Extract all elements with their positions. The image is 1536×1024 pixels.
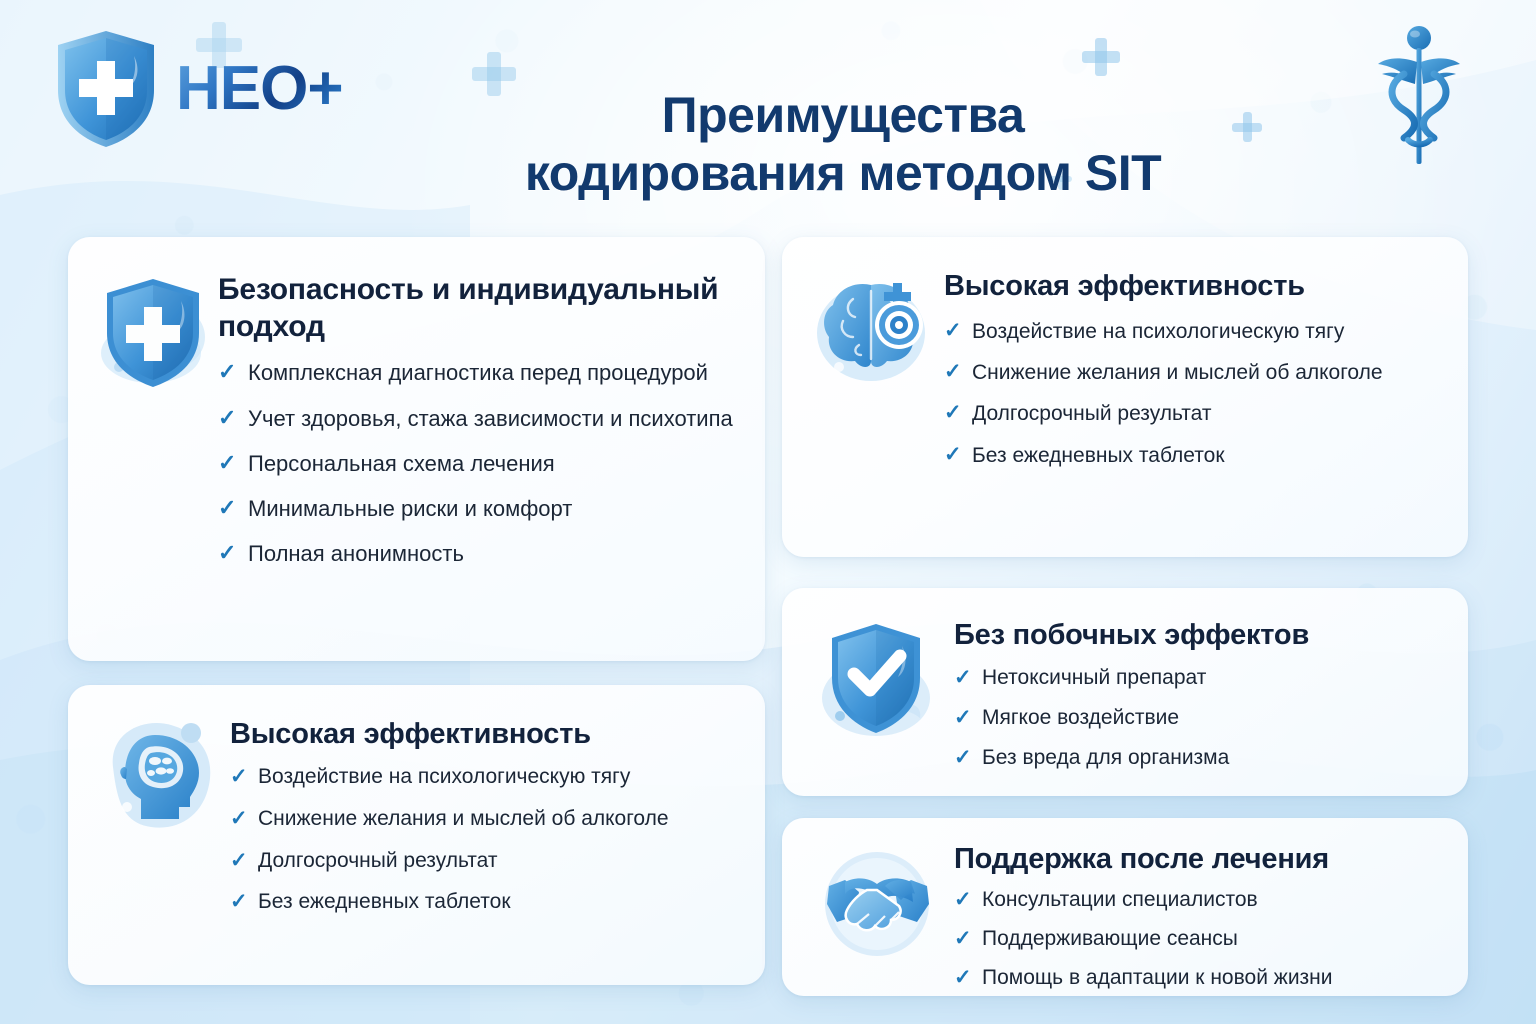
check-icon: ✓	[230, 889, 258, 912]
list-item-text: Без ежедневных таблеток	[258, 889, 739, 916]
check-icon: ✓	[944, 400, 972, 423]
check-icon: ✓	[218, 450, 248, 474]
card-support-list: ✓ Консультации специалистов ✓ Поддержива…	[954, 887, 1442, 992]
card-effectiveness-right-body: Высокая эффективность ✓ Воздействие на п…	[944, 261, 1442, 539]
list-item-text: Долгосрочный результат	[972, 400, 1442, 427]
list-item: ✓ Помощь в адаптации к новой жизни	[954, 965, 1442, 992]
card-effectiveness-left: Высокая эффективность ✓ Воздействие на п…	[68, 685, 765, 985]
card-safety: Безопасность и индивидуальный подход ✓ К…	[68, 237, 765, 661]
list-item: ✓ Учет здоровья, стажа зависимости и пси…	[218, 405, 737, 433]
brand-logo[interactable]: НЕО+	[50, 28, 343, 150]
list-item-text: Консультации специалистов	[982, 887, 1442, 914]
list-item-text: Мягкое воздействие	[982, 705, 1442, 732]
list-item: ✓ Долгосрочный результат	[230, 848, 739, 875]
list-item: ✓ Минимальные риски и комфорт	[218, 495, 737, 523]
head-brain-icon	[95, 711, 225, 841]
shield-plus-icon	[50, 28, 162, 150]
check-icon: ✓	[954, 887, 982, 910]
check-icon: ✓	[218, 540, 248, 564]
check-icon: ✓	[954, 705, 982, 728]
list-item-text: Поддерживающие сеансы	[982, 926, 1442, 953]
list-item: ✓ Воздействие на психологическую тягу	[944, 318, 1442, 345]
check-icon: ✓	[230, 848, 258, 871]
check-icon: ✓	[218, 359, 248, 383]
check-icon: ✓	[944, 359, 972, 382]
list-item-text: Воздействие на психологическую тягу	[258, 764, 739, 791]
card-support-icon-wrap	[804, 836, 954, 982]
list-item: ✓ Без ежедневных таблеток	[944, 442, 1442, 469]
list-item-text: Минимальные риски и комфорт	[248, 495, 737, 523]
card-no-side-effects-icon-wrap	[804, 610, 954, 780]
check-icon: ✓	[230, 764, 258, 787]
card-effectiveness-left-list: ✓ Воздействие на психологическую тягу ✓ …	[230, 764, 739, 917]
card-effectiveness-right-icon-wrap	[804, 261, 944, 539]
page-title-line1: Преимущества	[662, 87, 1025, 143]
list-item: ✓ Долгосрочный результат	[944, 400, 1442, 427]
card-support-body: Поддержка после лечения ✓ Консультации с…	[954, 836, 1442, 982]
list-item: ✓ Без вреда для организма	[954, 745, 1442, 772]
card-effectiveness-right-list: ✓ Воздействие на психологическую тягу ✓ …	[944, 318, 1442, 469]
list-item: ✓ Мягкое воздействие	[954, 705, 1442, 732]
list-item-text: Нетоксичный препарат	[982, 665, 1442, 692]
list-item: ✓ Персональная схема лечения	[218, 450, 737, 478]
card-effectiveness-left-body: Высокая эффективность ✓ Воздействие на п…	[230, 707, 739, 967]
check-icon: ✓	[218, 495, 248, 519]
check-icon: ✓	[230, 806, 258, 829]
list-item-text: Персональная схема лечения	[248, 450, 737, 478]
list-item: ✓ Полная анонимность	[218, 540, 737, 568]
card-effectiveness-right: Высокая эффективность ✓ Воздействие на п…	[782, 237, 1468, 557]
list-item: ✓ Снижение желания и мыслей об алкоголе	[230, 806, 739, 833]
list-item-text: Воздействие на психологическую тягу	[972, 318, 1442, 345]
page-title: Преимущества кодирования методом SIT	[330, 86, 1356, 202]
card-safety-title: Безопасность и индивидуальный подход	[218, 271, 737, 345]
list-item-text: Учет здоровья, стажа зависимости и психо…	[248, 405, 737, 433]
list-item-text: Без вреда для организма	[982, 745, 1442, 772]
card-no-side-effects-body: Без побочных эффектов ✓ Нетоксичный преп…	[954, 610, 1442, 780]
shield-plus-icon	[95, 271, 213, 401]
card-no-side-effects: Без побочных эффектов ✓ Нетоксичный преп…	[782, 588, 1468, 796]
list-item: ✓ Консультации специалистов	[954, 887, 1442, 914]
card-effectiveness-left-title: Высокая эффективность	[230, 717, 739, 752]
list-item-text: Помощь в адаптации к новой жизни	[982, 965, 1442, 992]
caduceus-icon	[1374, 22, 1464, 172]
list-item: ✓ Поддерживающие сеансы	[954, 926, 1442, 953]
shield-check-icon	[814, 614, 944, 754]
card-no-side-effects-title: Без побочных эффектов	[954, 618, 1442, 653]
list-item-text: Снижение желания и мыслей об алкоголе	[972, 359, 1442, 386]
card-safety-icon-wrap	[90, 263, 218, 641]
card-safety-body: Безопасность и индивидуальный подход ✓ К…	[218, 263, 737, 641]
list-item-text: Без ежедневных таблеток	[972, 442, 1442, 469]
list-item: ✓ Без ежедневных таблеток	[230, 889, 739, 916]
check-icon: ✓	[954, 965, 982, 988]
check-icon: ✓	[954, 665, 982, 688]
card-safety-list: ✓ Комплексная диагностика перед процедур…	[218, 359, 737, 568]
card-support: Поддержка после лечения ✓ Консультации с…	[782, 818, 1468, 996]
check-icon: ✓	[218, 405, 248, 429]
list-item-text: Долгосрочный результат	[258, 848, 739, 875]
check-icon: ✓	[944, 442, 972, 465]
check-icon: ✓	[944, 318, 972, 341]
card-effectiveness-right-title: Высокая эффективность	[944, 269, 1442, 304]
list-item-text: Полная анонимность	[248, 540, 737, 568]
page-title-line2: кодирования методом SIT	[330, 144, 1356, 202]
page-header: НЕО+ Преимущества кодирования методом SI…	[0, 0, 1536, 200]
card-no-side-effects-list: ✓ Нетоксичный препарат ✓ Мягкое воздейст…	[954, 665, 1442, 772]
brain-target-icon	[809, 267, 939, 395]
list-item: ✓ Нетоксичный препарат	[954, 665, 1442, 692]
list-item-text: Комплексная диагностика перед процедурой	[248, 359, 737, 387]
list-item: ✓ Воздействие на психологическую тягу	[230, 764, 739, 791]
brand-name: НЕО+	[176, 58, 343, 120]
handshake-icon	[815, 842, 943, 968]
list-item: ✓ Комплексная диагностика перед процедур…	[218, 359, 737, 387]
list-item-text: Снижение желания и мыслей об алкоголе	[258, 806, 739, 833]
infographic-poster: НЕО+ Преимущества кодирования методом SI…	[0, 0, 1536, 1024]
check-icon: ✓	[954, 926, 982, 949]
list-item: ✓ Снижение желания и мыслей об алкоголе	[944, 359, 1442, 386]
check-icon: ✓	[954, 745, 982, 768]
card-effectiveness-left-icon-wrap	[90, 707, 230, 967]
card-support-title: Поддержка после лечения	[954, 842, 1442, 877]
